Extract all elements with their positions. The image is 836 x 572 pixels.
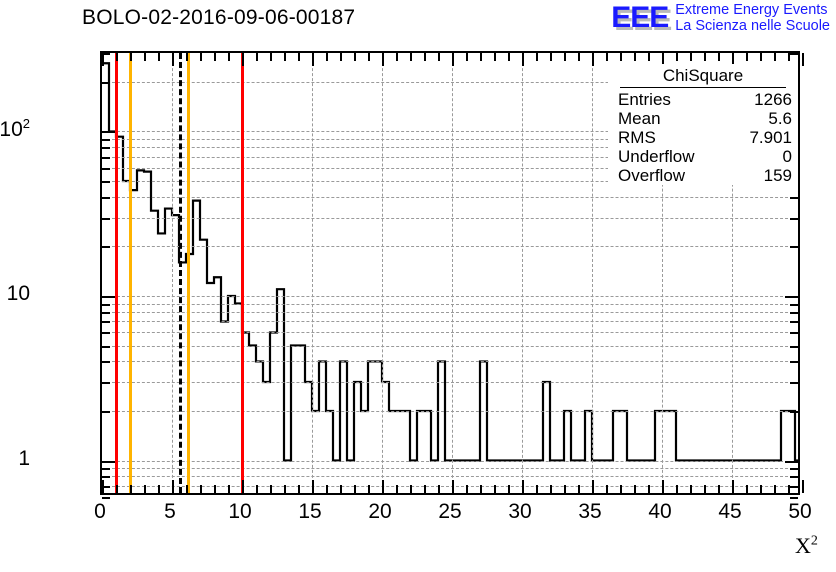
- y-axis-tick: [102, 497, 110, 499]
- x-axis-tick: [144, 485, 146, 493]
- x-axis-tick: [578, 53, 580, 61]
- x-axis-tick: [788, 485, 790, 493]
- x-axis-tick: [550, 53, 552, 61]
- y-axis-tick: [790, 382, 798, 384]
- x-axis-tick: [396, 485, 398, 493]
- x-axis-tick: [200, 485, 202, 493]
- x-axis-tick: [270, 485, 272, 493]
- x-axis-tick: [172, 480, 174, 493]
- x-axis-tick: [242, 480, 244, 493]
- x-axis-tick: [312, 53, 314, 66]
- x-axis-tick: [438, 485, 440, 493]
- x-axis-tick: [326, 53, 328, 61]
- y-axis-tick: [790, 468, 798, 470]
- y-axis-tick: [102, 312, 110, 314]
- x-axis-tick: [354, 53, 356, 61]
- x-axis-tick: [494, 53, 496, 61]
- cut-line-orange-high: [187, 53, 190, 493]
- x-axis-tick: [172, 53, 174, 66]
- stats-row-key: Mean: [618, 110, 661, 127]
- x-axis-tick: [396, 53, 398, 61]
- x-axis-tick-label: 0: [94, 500, 106, 524]
- y-axis-tick: [102, 346, 110, 348]
- x-axis-tick: [466, 53, 468, 61]
- x-axis-tick: [774, 53, 776, 61]
- x-axis-tick: [312, 480, 314, 493]
- x-axis-tick: [564, 53, 566, 61]
- x-axis-tick: [480, 53, 482, 61]
- y-axis-tick: [102, 468, 110, 470]
- y-axis-tick: [102, 361, 110, 363]
- y-axis-tick: [785, 296, 798, 298]
- x-axis-tick-label: 5: [164, 500, 176, 524]
- mean-line: [179, 53, 182, 493]
- x-axis-tick: [634, 53, 636, 61]
- x-axis-tick-label: 15: [298, 500, 321, 524]
- y-axis-tick: [102, 382, 110, 384]
- x-axis-tick-label: 10: [228, 500, 251, 524]
- gridline-horizontal: [102, 296, 798, 297]
- x-axis-tick: [522, 53, 524, 66]
- x-axis-tick: [620, 53, 622, 61]
- y-axis-tick: [102, 461, 115, 463]
- x-axis-tick: [802, 480, 804, 493]
- y-axis-tick: [102, 321, 110, 323]
- gridline-vertical: [312, 53, 313, 493]
- x-axis-tick: [368, 485, 370, 493]
- gridline-vertical: [592, 53, 593, 493]
- x-axis-tick: [704, 53, 706, 61]
- cut-line-red-low: [115, 53, 118, 493]
- y-axis-tick: [102, 131, 115, 133]
- x-axis-tick: [634, 485, 636, 493]
- stats-row-key: RMS: [618, 129, 656, 146]
- x-axis-tick: [340, 53, 342, 61]
- x-axis-tick: [424, 53, 426, 61]
- stats-row-key: Overflow: [618, 167, 685, 184]
- y-axis-tick: [102, 168, 110, 170]
- stats-row: Overflow159: [608, 166, 798, 185]
- x-axis-title-base: X: [795, 533, 811, 558]
- eee-logo-line1: Extreme Energy Events: [675, 2, 830, 18]
- y-axis-tick: [102, 411, 110, 413]
- x-axis-tick: [788, 53, 790, 61]
- gridline-horizontal: [102, 461, 798, 462]
- x-axis-tick: [690, 485, 692, 493]
- y-axis-tick-label: 10: [7, 282, 30, 306]
- x-axis-tick: [452, 53, 454, 66]
- gridline-horizontal: [102, 382, 798, 383]
- y-axis-tick: [790, 218, 798, 220]
- x-axis-tick: [648, 485, 650, 493]
- x-axis-tick: [536, 485, 538, 493]
- x-axis-tick: [214, 53, 216, 61]
- y-axis-tick: [102, 147, 110, 149]
- x-axis-tick: [410, 53, 412, 61]
- y-axis-tick: [790, 312, 798, 314]
- x-axis-tick: [368, 53, 370, 61]
- x-axis-tick: [130, 53, 132, 61]
- x-axis-tick: [158, 53, 160, 61]
- x-axis-tick: [270, 53, 272, 61]
- x-axis-tick: [550, 485, 552, 493]
- page-title: BOLO-02-2016-09-06-00187: [82, 6, 355, 30]
- y-axis-title: Entries/bin: [0, 216, 5, 320]
- stats-title-rule: [620, 87, 786, 88]
- x-axis-tick: [746, 53, 748, 61]
- gridline-horizontal: [102, 332, 798, 333]
- gridline-horizontal: [102, 312, 798, 313]
- stats-title: ChiSquare: [608, 66, 798, 87]
- x-axis-tick: [592, 53, 594, 66]
- x-axis-tick: [704, 485, 706, 493]
- y-axis-tick: [102, 296, 115, 298]
- gridline-horizontal: [102, 321, 798, 322]
- x-axis-tick: [774, 485, 776, 493]
- x-axis-tick: [284, 53, 286, 61]
- eee-logo: EEE Extreme Energy Events La Scienza nel…: [611, 2, 830, 34]
- x-axis-tick: [522, 480, 524, 493]
- stats-row: Entries1266: [608, 90, 798, 109]
- eee-logo-line2: La Scienza nelle Scuole: [675, 18, 830, 34]
- x-axis-tick-label: 50: [788, 500, 811, 524]
- y-axis-tick: [790, 497, 798, 499]
- x-axis-tick: [466, 485, 468, 493]
- gridline-vertical: [452, 53, 453, 493]
- x-axis-tick: [326, 485, 328, 493]
- y-axis-tick: [102, 476, 110, 478]
- x-axis-tick: [256, 485, 258, 493]
- stats-row-value: 7.901: [749, 129, 792, 146]
- gridline-vertical: [172, 53, 173, 493]
- gridline-horizontal: [102, 218, 798, 219]
- y-axis-tick: [102, 157, 110, 159]
- x-axis-tick: [284, 485, 286, 493]
- y-axis-tick: [102, 246, 110, 248]
- y-axis-tick: [790, 332, 798, 334]
- x-axis-tick: [158, 485, 160, 493]
- x-axis-tick: [760, 485, 762, 493]
- x-axis-tick: [214, 485, 216, 493]
- x-axis-tick: [102, 53, 104, 66]
- x-axis-tick: [676, 53, 678, 61]
- stats-row-value: 159: [764, 167, 792, 184]
- x-axis-tick: [130, 485, 132, 493]
- x-axis-tick: [578, 485, 580, 493]
- x-axis-tick: [746, 485, 748, 493]
- cut-line-orange-low: [129, 53, 132, 493]
- x-axis-tick: [200, 53, 202, 61]
- y-axis-tick: [790, 321, 798, 323]
- y-axis-tick: [790, 304, 798, 306]
- x-axis-tick: [256, 53, 258, 61]
- y-axis-tick: [790, 346, 798, 348]
- eee-logo-mark: EEE: [611, 3, 668, 33]
- x-axis-tick-label: 30: [508, 500, 531, 524]
- y-axis-tick: [785, 461, 798, 463]
- x-axis-tick: [228, 53, 230, 61]
- x-axis-tick-label: 20: [368, 500, 391, 524]
- x-axis-tick: [676, 485, 678, 493]
- y-axis-tick: [102, 304, 110, 306]
- y-axis-tick: [102, 82, 110, 84]
- stats-row: Underflow0: [608, 147, 798, 166]
- x-axis-tick: [382, 53, 384, 66]
- gridline-horizontal: [102, 476, 798, 477]
- y-axis-tick: [790, 486, 798, 488]
- x-axis-tick: [480, 485, 482, 493]
- x-axis-tick: [102, 480, 104, 493]
- x-axis-tick: [732, 480, 734, 493]
- gridline-horizontal: [102, 468, 798, 469]
- x-axis-tick: [298, 485, 300, 493]
- x-axis-tick: [340, 485, 342, 493]
- x-axis-tick: [592, 480, 594, 493]
- stats-row-value: 5.6: [768, 110, 792, 127]
- y-axis-tick: [790, 246, 798, 248]
- y-axis-tick-label: 102: [0, 116, 30, 142]
- gridline-horizontal: [102, 486, 798, 487]
- x-axis-tick: [410, 485, 412, 493]
- x-axis-tick: [802, 53, 804, 66]
- x-axis-tick: [298, 53, 300, 61]
- y-axis-tick: [102, 139, 110, 141]
- x-axis-tick: [186, 485, 188, 493]
- cut-line-red-high: [241, 53, 244, 493]
- gridline-horizontal: [102, 197, 798, 198]
- x-axis-tick: [648, 53, 650, 61]
- x-axis-tick: [116, 53, 118, 61]
- x-axis-tick: [144, 53, 146, 61]
- stats-row: Mean5.6: [608, 109, 798, 128]
- x-axis-tick-label: 40: [648, 500, 671, 524]
- y-axis-tick: [102, 218, 110, 220]
- x-axis-tick-label: 35: [578, 500, 601, 524]
- x-axis-tick: [452, 480, 454, 493]
- y-axis-tick: [790, 53, 798, 55]
- stats-row-value: 0: [783, 148, 792, 165]
- gridline-horizontal: [102, 346, 798, 347]
- x-axis-title: X2: [795, 533, 818, 559]
- x-axis-tick: [494, 485, 496, 493]
- x-axis-tick: [606, 485, 608, 493]
- y-axis-tick: [790, 411, 798, 413]
- gridline-vertical: [522, 53, 523, 493]
- x-axis-tick: [690, 53, 692, 61]
- x-axis-tick: [186, 53, 188, 61]
- y-axis-tick: [790, 476, 798, 478]
- y-axis-tick: [790, 361, 798, 363]
- x-axis-tick: [242, 53, 244, 66]
- y-axis-tick: [102, 197, 110, 199]
- gridline-horizontal: [102, 304, 798, 305]
- x-axis-tick: [382, 480, 384, 493]
- eee-logo-text: Extreme Energy Events La Scienza nelle S…: [675, 2, 830, 34]
- x-axis-tick: [228, 485, 230, 493]
- gridline-vertical: [382, 53, 383, 493]
- stats-row: RMS7.901: [608, 128, 798, 147]
- gridline-horizontal: [102, 246, 798, 247]
- gridline-horizontal: [102, 361, 798, 362]
- x-axis-tick-label: 45: [718, 500, 741, 524]
- x-axis-tick: [354, 485, 356, 493]
- x-axis-tick: [438, 53, 440, 61]
- x-axis-tick: [116, 485, 118, 493]
- x-axis-tick: [718, 485, 720, 493]
- y-axis-tick: [102, 332, 110, 334]
- x-axis-tick: [536, 53, 538, 61]
- stats-box: ChiSquare Entries1266Mean5.6RMS7.901Unde…: [608, 64, 798, 185]
- gridline-horizontal: [102, 411, 798, 412]
- x-axis-tick: [718, 53, 720, 61]
- y-axis-tick-label: 1: [18, 447, 30, 471]
- y-axis-tick: [102, 181, 110, 183]
- stats-row-key: Underflow: [618, 148, 695, 165]
- stats-row-key: Entries: [618, 91, 671, 108]
- x-axis-tick: [508, 53, 510, 61]
- x-axis-tick: [508, 485, 510, 493]
- x-axis-tick: [662, 480, 664, 493]
- x-axis-tick: [606, 53, 608, 61]
- x-axis-tick: [620, 485, 622, 493]
- x-axis-tick: [564, 485, 566, 493]
- x-axis-tick: [760, 53, 762, 61]
- stats-rows: Entries1266Mean5.6RMS7.901Underflow0Over…: [608, 90, 798, 185]
- x-axis-tick-label: 25: [438, 500, 461, 524]
- x-axis-tick: [424, 485, 426, 493]
- x-axis-title-exponent: 2: [811, 534, 818, 549]
- stats-row-value: 1266: [754, 91, 792, 108]
- y-axis-tick: [790, 197, 798, 199]
